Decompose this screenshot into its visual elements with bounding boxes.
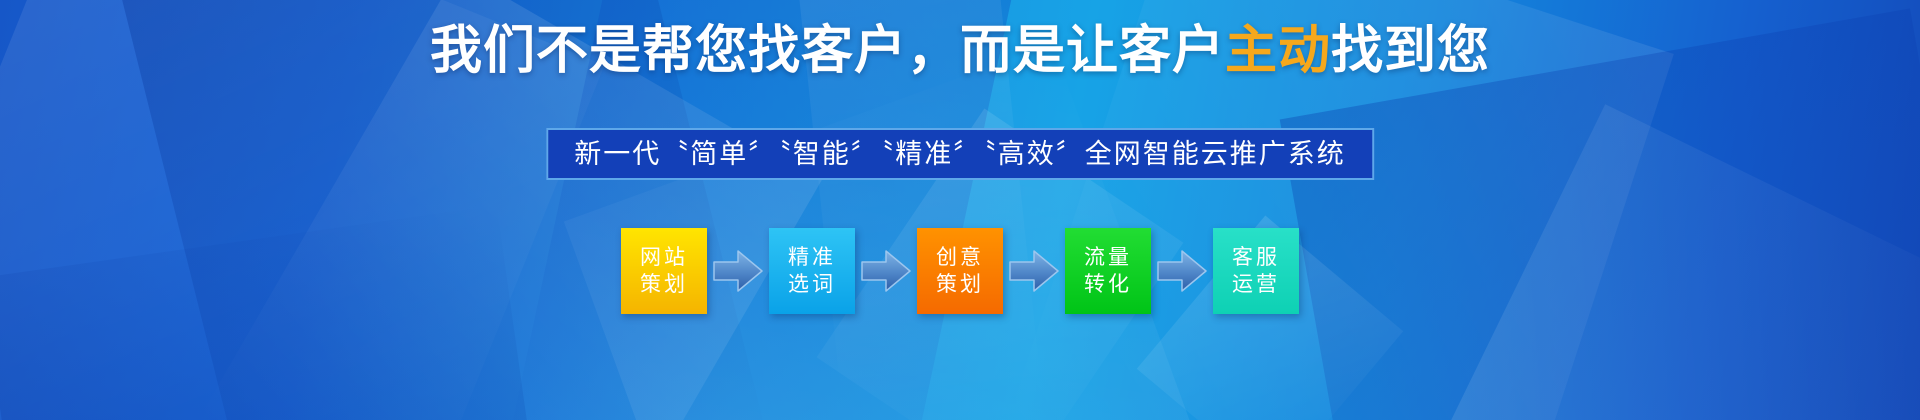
process-step-line2: 运营 xyxy=(1232,271,1280,298)
background-shard xyxy=(1447,104,1920,420)
subtitle-text: 新一代〝简单〞〝智能〞〝精准〞〝高效〞全网智能云推广系统 xyxy=(574,137,1346,171)
process-step-box[interactable]: 流量转化 xyxy=(1065,228,1151,314)
process-step-box[interactable]: 客服运营 xyxy=(1213,228,1299,314)
process-step-line2: 策划 xyxy=(640,271,688,298)
process-step-line1: 创意 xyxy=(936,244,984,271)
headline-text-after: 找到您 xyxy=(1331,22,1490,80)
subtitle-bar: 新一代〝简单〞〝智能〞〝精准〞〝高效〞全网智能云推广系统 xyxy=(546,128,1374,180)
process-step-line1: 流量 xyxy=(1084,244,1132,271)
headline-text-before: 我们不是帮您找客户，而是让客户 xyxy=(430,22,1225,80)
process-step-line1: 精准 xyxy=(788,244,836,271)
promo-banner: 我们不是帮您找客户，而是让客户主动找到您 新一代〝简单〞〝智能〞〝精准〞〝高效〞… xyxy=(0,0,1920,420)
process-step-box[interactable]: 网站策划 xyxy=(621,228,707,314)
process-step-line2: 策划 xyxy=(936,271,984,298)
process-step-box[interactable]: 创意策划 xyxy=(917,228,1003,314)
process-step-line2: 转化 xyxy=(1084,271,1132,298)
background-shard xyxy=(0,205,538,420)
process-step-line1: 网站 xyxy=(640,244,688,271)
headline-highlight: 主动 xyxy=(1225,22,1331,80)
chevron-right-arrow xyxy=(1003,228,1065,314)
process-step-box[interactable]: 精准选词 xyxy=(769,228,855,314)
chevron-right-arrow xyxy=(1151,228,1213,314)
process-step-line2: 选词 xyxy=(788,271,836,298)
headline: 我们不是帮您找客户，而是让客户主动找到您 xyxy=(0,20,1920,82)
process-step-line1: 客服 xyxy=(1232,244,1280,271)
chevron-right-arrow xyxy=(855,228,917,314)
process-flow: 网站策划精准选词创意策划流量转化客服运营 xyxy=(621,228,1299,314)
chevron-right-arrow xyxy=(707,228,769,314)
